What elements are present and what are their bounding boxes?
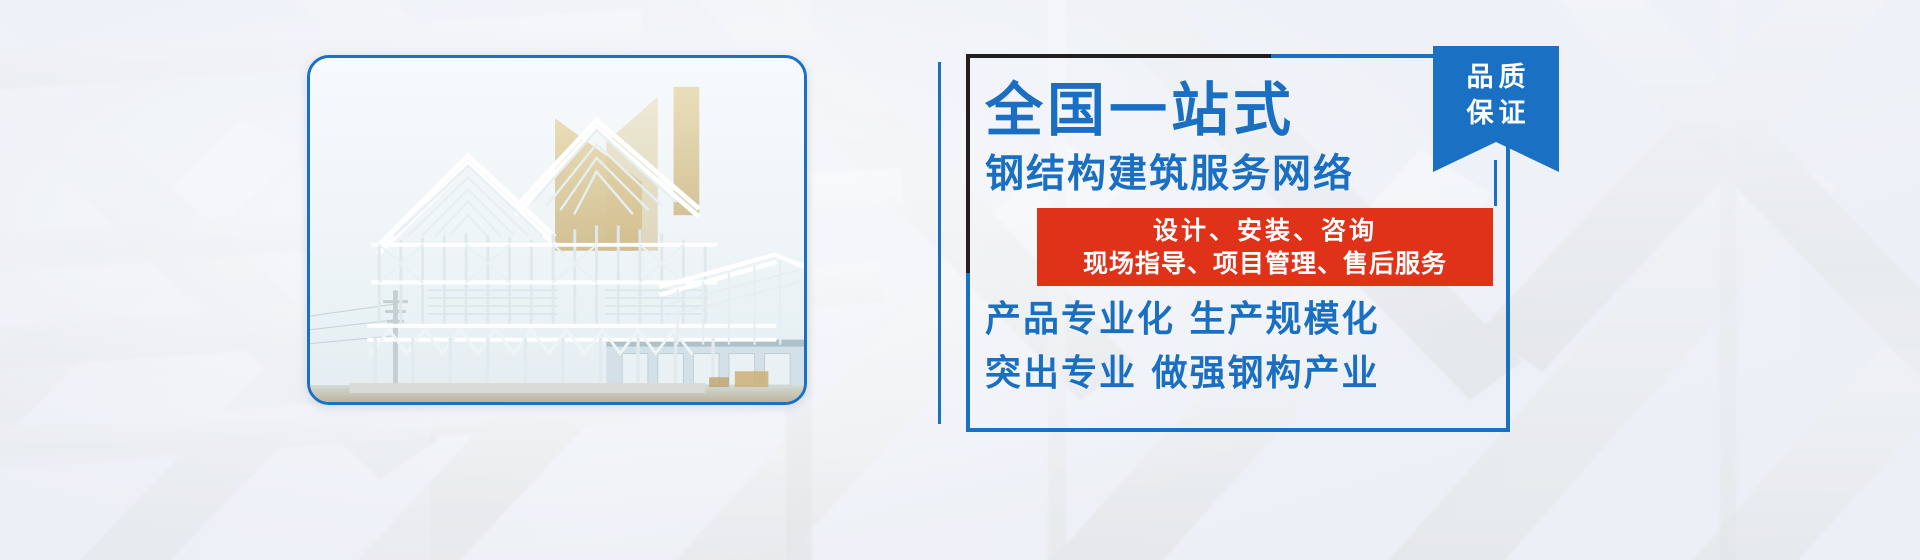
slogan-line-2: 突出专业 做强钢构产业	[985, 352, 1380, 396]
steel-frame-house-illustration	[310, 58, 804, 402]
frame-accent-line	[938, 62, 941, 424]
quality-guarantee-badge: 品质 保证	[1433, 46, 1559, 172]
steel-house-photo-card	[307, 55, 807, 405]
services-line-2: 现场指导、项目管理、售后服务	[1083, 247, 1447, 280]
marketing-copy-block: 全国一站式 钢结构建筑服务网络 设计、安装、咨询 现场指导、项目管理、售后服务 …	[985, 60, 1495, 430]
services-line-1: 设计、安装、咨询	[1153, 215, 1377, 247]
background-steel-structure	[0, 0, 1920, 560]
services-callout-box: 设计、安装、咨询 现场指导、项目管理、售后服务	[1037, 208, 1493, 286]
promo-banner: 全国一站式 钢结构建筑服务网络 设计、安装、咨询 现场指导、项目管理、售后服务 …	[0, 0, 1920, 560]
frame-top-dark-edge	[966, 54, 1271, 58]
ribbon-shape-icon	[1433, 46, 1559, 172]
slogan-line-1: 产品专业化 生产规模化	[985, 298, 1380, 342]
banner-subheadline: 钢结构建筑服务网络	[985, 152, 1354, 198]
frame-left-blue-edge	[966, 273, 970, 432]
banner-headline: 全国一站式	[985, 78, 1295, 142]
